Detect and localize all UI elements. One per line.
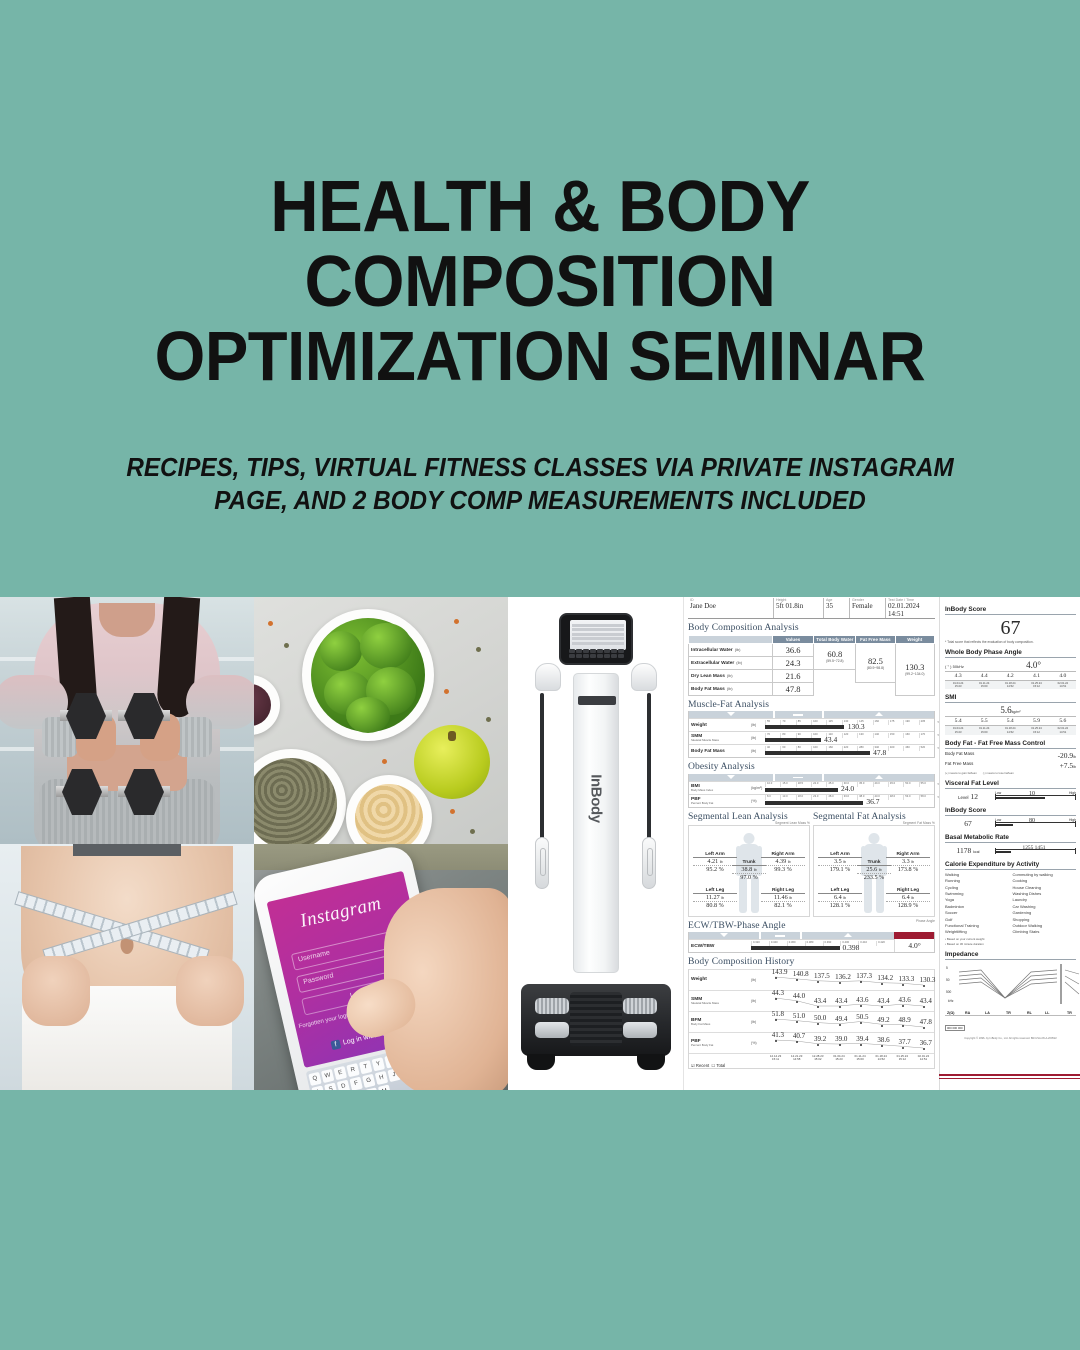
bar-value: 43.4 [824,735,837,744]
device-band [578,696,616,705]
tick: 205 [919,720,934,725]
history-value: 49.2 [877,1016,889,1024]
subtitle-line-1: RECIPES, TIPS, VIRTUAL FITNESS CLASSES V… [126,454,953,482]
th-weight: Weight [895,635,934,643]
tick: 33.0 [842,795,857,800]
device-keypad[interactable] [569,649,627,660]
history-value: 134.2 [877,974,893,982]
history-value: 43.6 [856,996,868,1004]
key-y[interactable]: Y [372,1057,385,1071]
bar-graph: 8.013.018.023.028.033.038.043.048.053.05… [765,795,934,806]
history-value: 51.0 [793,1012,805,1020]
collage-photo-grid: Instagram Username Password Log in Forgo… [0,597,508,1090]
imp-x-rl: RL [1027,1011,1032,1015]
row-label: Intracellular Water(lb) [689,643,773,656]
bar-sublabel: Skeletal Muscle Mass [691,739,751,742]
bar-row: Body Fat Mass(lb)40608010016022028034040… [689,744,934,757]
fat-free-value: +7.5lb [1030,761,1076,770]
bowl-chickpeas [346,775,432,844]
calorie-activity-title: Calorie Expenditure by Activity [945,861,1076,870]
activity-item: Weightlifting [945,929,1009,935]
smi-title: SMI [945,694,1076,703]
right-leg-value: 11.46 lb [761,894,805,902]
bar-row: PBFPercent Body Fat(%)8.013.018.023.028.… [689,794,934,807]
history-date: 01.25.2415:12 [1023,726,1049,735]
device-display-head [559,613,633,665]
history-value: 44.0 [793,992,805,1000]
tick: 10.0 [765,782,780,787]
row-label: Body Fat Mass(lb) [689,682,773,695]
history-label: SMMSkeletal Muscle Mass [689,997,751,1005]
sheet-accent-line-2 [939,1078,1080,1079]
history-point [839,1024,841,1026]
page-subtitle: RECIPES, TIPS, VIRTUAL FITNESS CLASSES V… [84,452,996,517]
history-point [902,1047,904,1049]
imp-x-ra: RA [965,1011,970,1015]
device-base-platform[interactable] [521,984,671,1056]
right-leg-pct: 82.1 % [761,902,805,909]
device-cable-right [647,693,651,843]
tick: 120 [842,733,857,738]
tick: 220 [842,746,857,751]
history-point [881,1045,883,1047]
body-fat-value: -20.9lb [1030,751,1076,760]
tick: 48.0 [888,795,903,800]
right-arm-pct: 99.3 % [761,866,805,873]
device-cable-left [540,693,544,843]
tick: 70 [780,720,795,725]
tick: 85 [796,720,811,725]
history-value: 5.6 [1050,717,1076,726]
bar-label: PBFPercent Body Fat [689,797,751,805]
height-cell: Height 5ft 01.8in [774,598,824,618]
bar-graph: 557085100115130145160175190205130.3% [765,720,934,731]
history-value: 37.7 [899,1038,911,1046]
left-arm-pct: 179.1 % [818,866,862,873]
th-ffm: Fat Free Mass [856,635,895,643]
tick: 190 [903,720,918,725]
dumbbell-icon [118,693,170,739]
neck-shape [99,603,155,637]
bar-value: 130.3 [848,722,865,731]
history-date: 02.01.2414:51 [1050,726,1076,735]
history-value: 4.4 [971,672,997,681]
note-plus: (+) means to gain fat/lean [945,771,977,775]
impedance-chart: 5 50 500 kHz Z(Ω) RA LA TR RL [945,962,1076,1016]
history-value: 143.9 [772,968,788,976]
activity-note-2: • Based on 30 minute duration [945,942,1076,946]
seg-lean-title: Segmental Lean Analysis Segment Lean Mas… [688,811,810,822]
history-point [902,1005,904,1007]
fat-free-label: Fat Free Mass [945,761,1030,770]
key-m[interactable]: M [378,1084,391,1090]
inbody-device-photo: InBody [508,597,683,1090]
tick: 80 [796,746,811,751]
visceral-level: Level12 [945,792,991,801]
bar-unit: (%) [751,799,765,803]
right-arm-value: 4.39 lb [761,858,805,866]
history-value: 39.4 [856,1035,868,1043]
sheet-right-column: InBody Score 67 * Total score that refle… [939,597,1080,1090]
tick: 100 [811,746,826,751]
subtitle-line-2: PAGE, AND 2 BODY COMP MEASUREMENTS INCLU… [214,487,865,515]
left-leg-value: 11.27 lb [693,894,737,902]
history-value: 43.4 [835,997,847,1005]
key-f[interactable]: F [349,1076,362,1090]
copyright-text: Copyright © 1996- by InBody Co., Ltd. Al… [945,1037,1076,1040]
ecw-row: ECW/TBW0.3200.3400.3600.3800.3900.4000.4… [689,939,894,952]
th-values: Values [772,635,814,643]
bar-row: Weight(lb)557085100115130145160175190205… [689,718,934,731]
impedance-title: Impedance [945,951,1076,960]
imp-y-5: 5 [946,966,948,970]
tick: 280 [857,746,872,751]
tick: 400 [888,746,903,751]
phase-angle-main-value: 4.0° [991,660,1076,670]
history-footer: ☑ Recent ☐ Total [689,1063,934,1068]
history-value: 130.3 [920,976,936,984]
bowl-lentils [254,749,346,844]
history-label: Weight [689,977,751,982]
tick: 0.420 [876,941,894,946]
note-minus: (-) means to lose fat/lean [983,771,1014,775]
history-date: 01.04.2415:23 [828,1054,849,1063]
dumbbell-icon [56,769,108,815]
impedance-value-box: 000 000 000 [945,1025,965,1031]
history-value: 50.0 [814,1014,826,1022]
history-value: 133.3 [899,975,915,983]
tick: 0.380 [805,941,823,946]
phase-angle-sup: Phase Angle [916,920,935,923]
history-row: BFMBody Fat Mass(lb)51.851.050.049.450.5… [689,1011,934,1032]
tick: 8.0 [765,795,780,800]
body-fat-control-row: Body Fat Mass -20.9lb [945,751,1076,760]
history-row: PBFPercent Body Fat(%)41.340.739.239.039… [689,1032,934,1053]
facebook-icon: f [330,1039,341,1050]
tick: 80 [780,733,795,738]
bar-graph: 70809010011012013014015016017043.4% [765,733,934,744]
key-q[interactable]: Q [308,1071,321,1085]
page-title: HEALTH & BODY COMPOSITION OPTIMIZATION S… [38,170,1042,393]
bowl-broccoli [302,609,434,741]
tick: 160 [826,746,841,751]
dumbbell-icon [60,693,112,739]
ecw-label: ECW/TBW [689,944,751,949]
hand-right [176,956,244,1026]
seg-fat-title: Segmental Fat Analysis Segment Fat Mass … [813,811,935,822]
photo-waist-measurement [0,844,254,1091]
inbody-score-gauge-title: InBody Score [945,807,1076,816]
history-date: 01.25.2415:12 [1023,681,1049,690]
device-hand-grip-left[interactable] [535,837,549,889]
activity-item: Climbing Stairs [1013,929,1077,935]
tick: 22.0 [811,782,826,787]
history-value: 137.5 [814,972,830,980]
history-date: 02.01.2414:51 [913,1054,934,1063]
bar-label: BMIBody Mass Index [689,784,751,792]
bar-unit: (lb) [751,723,765,727]
fat-free-control-row: Fat Free Mass +7.5lb [945,761,1076,770]
username-placeholder: Username [298,949,331,963]
history-date: 01.11.2415:00 [850,1054,871,1063]
history-date: 01.18.2414:52 [997,726,1023,735]
height-value: 5ft 01.8in [776,602,821,610]
visceral-fat-title: Visceral Fat Level [945,780,1076,789]
history-point [881,1025,883,1027]
imp-x-ll: LL [1045,1011,1049,1015]
right-leg: Right Leg11.46 lb82.1 % [761,888,805,910]
history-value: 38.6 [877,1036,889,1044]
tick: 520 [919,746,934,751]
patient-id-row: ID Jane Doe Height 5ft 01.8in Age 35 Gen… [688,597,935,619]
fat-control-title: Body Fat - Fat Free Mass Control [945,740,1076,749]
history-date: 02.01.2414:51 [1050,681,1076,690]
title-line-3: OPTIMIZATION SEMINAR [38,320,1042,393]
trunk-pct: 233.5 % [857,874,891,881]
gender-cell: Gender Female [850,598,886,618]
history-point [902,984,904,986]
tick: 460 [903,746,918,751]
age-cell: Age 35 [824,598,850,618]
imp-x-tr2: TR [1067,1011,1072,1015]
th-blank [689,635,773,643]
calorie-activity-lists: WalkingRunningCyclingSwimmingYogaBadmint… [945,872,1076,936]
bar-header [689,711,934,718]
photo-woman-dumbbells [0,597,254,844]
key-t[interactable]: T [359,1060,372,1074]
tick: 45.0 [888,782,903,787]
activity-col-2: Commuting by walkingCookingHouse Cleanin… [1013,872,1077,936]
activity-col-1: WalkingRunningCyclingSwimmingYogaBadmint… [945,872,1009,936]
date-row: 01.04.2415:2301.11.2415:0001.18.2414:520… [945,681,1076,690]
smi-history-table: 5.45.55.45.95.601.04.2415:2301.11.2415:0… [945,716,1076,734]
hand-left [22,956,90,1026]
segmental-analysis: Left Arm4.21 lb95.2 %Right Arm4.39 lb99.… [688,825,935,917]
bmr-value: 1178 kcal [945,846,991,855]
left-leg-pct: 128.1 % [818,902,862,909]
tick: 175 [888,720,903,725]
trunk-pct: 97.0 % [732,874,766,881]
history-point [860,1022,862,1024]
bar-label: Weight [689,723,751,728]
photo-collage: Instagram Username Password Log in Forgo… [0,597,1080,1090]
key-a[interactable]: A [311,1085,324,1090]
right-arm-value: 3.3 lb [886,858,930,866]
tick: 140 [873,733,888,738]
row-label: Dry Lean Mass(lb) [689,669,773,682]
impedance-lines [953,964,1080,1008]
ecw-value: 0.398 [843,943,860,952]
tick: 0.320 [751,941,769,946]
top-garment [73,844,181,856]
tick: 0.410 [858,941,876,946]
photo-healthy-food [254,597,508,844]
history-plot: 51.851.050.049.450.549.248.947.8 [765,1011,934,1032]
row-value: 24.3 [772,656,814,669]
history-value: 4.1 [1023,672,1049,681]
tick: 170 [919,733,934,738]
visceral-fat-gauge: Level12 Low 10 High [945,791,1076,802]
history-value: 136.2 [835,973,851,981]
phase-angle-title: Whole Body Phase Angle [945,649,1076,658]
bmr-gauge: 1178 kcal 1255 1451 [945,845,1076,856]
history-unit: (lb) [751,1020,765,1024]
history-point [839,982,841,984]
key-s[interactable]: S [324,1082,337,1090]
tick: 18.5 [796,782,811,787]
bar-graph: 40608010016022028034040046052047.8% [765,746,934,757]
left-leg-value: 6.4 lb [818,894,862,902]
bar-sublabel: Body Mass Index [691,789,751,792]
history-value: 5.4 [945,717,971,726]
right-arm-pct: 173.8 % [886,866,930,873]
device-hand-grip-right[interactable] [642,837,656,889]
password-placeholder: Password [303,972,335,986]
left-arm: Left Arm4.21 lb95.2 % [693,852,737,874]
green-apple [414,725,490,799]
below-normal-icon [727,712,735,716]
bmr-gauge-bar: 1255 1451 [995,845,1076,856]
history-value: 36.7 [920,1039,932,1047]
smi-value: 5.6kg/m² [945,705,1076,715]
key-d[interactable]: D [337,1079,350,1090]
tick: 25.0 [826,782,841,787]
history-row: Weight(lb)143.9140.8137.5136.2137.3134.2… [689,969,934,990]
bar-label: Body Fat Mass [689,749,751,754]
imp-x-tr: TR [1006,1011,1011,1015]
tick: 18.0 [796,795,811,800]
key-r[interactable]: R [346,1063,359,1077]
left-arm-value: 4.21 lb [693,858,737,866]
table-header-row: Values Total Body Water Fat Free Mass We… [689,635,935,643]
history-value: 4.3 [945,672,971,681]
history-toggle[interactable]: ☑ Recent ☐ Total [689,1063,765,1068]
inbody-logo: InBody [587,774,604,822]
ffm-cell: 82.5(80.9~98.8) [856,643,895,682]
history-date: 12.14.2315:11 [765,1054,786,1063]
tick: 0.390 [823,941,841,946]
tick: 150 [888,733,903,738]
bar-unit: (lb) [751,736,765,740]
tick: 90 [796,733,811,738]
above-normal-icon [875,712,883,716]
history-date: 01.04.2415:23 [945,726,971,735]
th-tbw: Total Body Water [814,635,856,643]
bar-value: 47.8 [873,748,886,757]
history-label: PBFPercent Body Fat [689,1039,751,1047]
row-value: 47.8 [772,682,814,695]
trunk-value: 25.6 lb [857,866,891,874]
score-gauge-value: 67 [945,819,991,828]
testdate-value: 02.01.2024 14:51 [888,602,933,618]
history-value: 4.0 [1050,672,1076,681]
history-value: 43.4 [920,997,932,1005]
bar-unit: (lb) [751,749,765,753]
history-point [860,1044,862,1046]
tick: 15.0 [780,782,795,787]
tick: 55.0 [919,782,934,787]
ecw-graph: 0.3200.3400.3600.3800.3900.4000.4100.420… [751,941,894,952]
score-gauge-bar: Low 80 High [995,818,1076,829]
history-title: Body Composition History [688,956,935,967]
bar-row: BMIBody Mass Index(kg/m²)10.015.018.522.… [689,781,934,794]
history-unit: (lb) [751,978,765,982]
device-screen [570,620,626,650]
id-value: Jane Doe [690,602,771,610]
tick: 160 [903,733,918,738]
left-arm: Left Arm3.5 lb179.1 % [818,852,862,874]
bmr-title: Basal Metabolic Rate [945,834,1076,843]
tick: 60 [780,746,795,751]
bar-sublabel: Percent Body Fat [691,802,751,805]
tick: 58.0 [919,795,934,800]
fat-control-notes: (+) means to gain fat/lean (-) means to … [945,771,1076,775]
history-date: 01.11.2415:00 [971,726,997,735]
ecw-block: ECW/TBW0.3200.3400.3600.3800.3900.4000.4… [688,932,935,953]
title-line-1: HEALTH & BODY [38,170,1042,245]
row-value: 36.6 [772,643,814,656]
imp-z-label: Z(Ω) [947,1011,954,1015]
age-value: 35 [826,602,847,610]
bar-value: 36.7 [866,797,879,806]
history-row: SMMSkeletal Muscle Mass(lb)44.344.043.44… [689,990,934,1011]
imp-x-la: LA [985,1011,990,1015]
trunk-value: 38.8 lb [732,866,766,874]
activity-note-1: • Based on your current weight [945,937,1076,941]
key-h[interactable]: H [375,1070,388,1084]
testdate-cell: Test Date / Time 02.01.2024 14:51 [886,598,935,618]
date-row: 01.04.2415:2301.11.2415:0001.18.2414:520… [945,726,1076,735]
bar-header [689,774,934,781]
value-row: 5.45.55.45.95.6 [945,717,1076,726]
tick: 23.0 [811,795,826,800]
tick: 0.360 [787,941,805,946]
key-w[interactable]: W [321,1068,334,1082]
left-leg: Left Leg11.27 lb80.8 % [693,888,737,910]
gender-value: Female [852,602,883,610]
bar-label: SMMSkeletal Muscle Mass [689,734,751,742]
tick: 0.340 [769,941,787,946]
history-value: 43.6 [899,996,911,1004]
obesity-title: Obesity Analysis [688,761,935,772]
key-e[interactable]: E [334,1065,347,1079]
phase-angle-value: 4.0° [894,939,934,952]
right-leg-value: 6.4 lb [886,894,930,902]
history-date: 01.18.2414:52 [997,681,1023,690]
tick: 53.0 [903,795,918,800]
history-value: 49.4 [835,1015,847,1023]
device-feet [521,1054,671,1070]
inbody-score-note: * Total score that reflects the evaluati… [945,640,1076,644]
visceral-gauge-bar: Low 10 High [995,791,1076,802]
body-composition-table: Values Total Body Water Fat Free Mass We… [688,635,935,696]
right-leg: Right Leg6.4 lb128.9 % [886,888,930,910]
bar-header [689,932,894,939]
trunk: Trunk38.8 lb97.0 % [732,860,766,882]
normal-icon [793,714,803,716]
history-value: 40.7 [793,1032,805,1040]
history-plot: 143.9140.8137.5136.2137.3134.2133.3130.3 [765,969,934,990]
trunk: Trunk25.6 lb233.5 % [857,860,891,882]
obesity-bars: BMIBody Mass Index(kg/m²)10.015.018.522.… [688,774,935,808]
key-g[interactable]: G [362,1073,375,1087]
left-leg-pct: 80.8 % [693,902,737,909]
history-unit: (%) [751,1041,765,1045]
ecw-title: ECW/TBW-Phase Angle Phase Angle [688,920,935,931]
tick: 55 [765,720,780,725]
history-plot: 44.344.043.443.443.643.443.643.4 [765,990,934,1011]
imp-y-50: 50 [946,978,950,982]
